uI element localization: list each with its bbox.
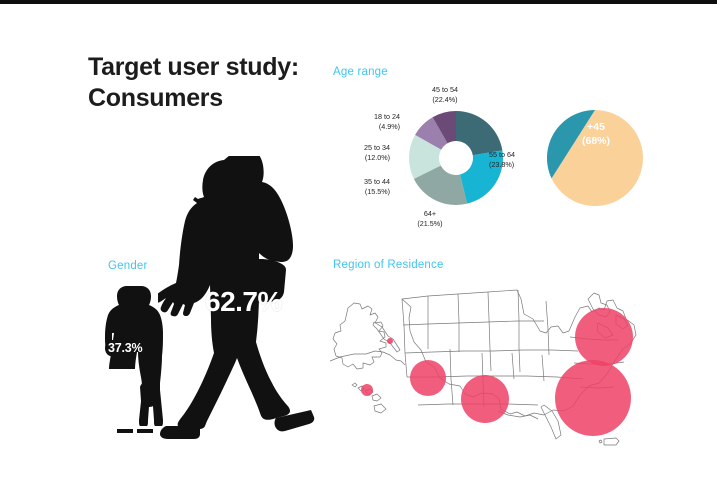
donut-label-55-to-64: 55 to 64 (23.8%) [489,150,515,169]
section-heading-gender: Gender [108,260,148,272]
donut-label-45-to-54-value: (22.4%) [415,95,475,105]
pie-center-label-value: (68%) [582,135,610,147]
page-title-line-1: Target user study: [88,53,299,81]
donut-label-45-to-54-name: 45 to 54 [432,85,458,94]
section-heading-region: Region of Residence [333,259,444,271]
region-bubble-hawaii [361,384,373,396]
region-bubble-northeast [575,308,633,366]
top-accent-bar [0,0,717,4]
pie-center-label-name: +45 [587,121,605,133]
donut-slice-45-to-54 [456,111,502,155]
donut-label-25-to-34: 25 to 34 (12.0%) [334,143,390,162]
donut-label-18-to-24: 18 to 24 (4.9%) [344,112,400,131]
male-percentage-label: 62.7% [205,286,282,318]
map-puerto-rico [599,438,619,445]
page-title: Target user study: Consumers [88,52,348,113]
map-state-alaska [333,303,386,369]
pie-center-label-over-45: +45 (68%) [568,121,624,148]
region-bubble-aleutian [387,338,393,344]
donut-label-45-to-54: 45 to 54 (22.4%) [415,85,475,104]
region-bubble-southeast [555,360,631,436]
page-title-line-2: Consumers [88,84,223,112]
map-southeast-detail [498,405,561,439]
donut-label-18-to-24-value: (4.9%) [344,122,400,132]
female-percentage-label: 37.3% [108,341,142,355]
donut-label-25-to-34-name: 25 to 34 [364,143,390,152]
donut-label-35-to-44-name: 35 to 44 [364,177,390,186]
region-bubble-west [410,360,446,396]
donut-label-64-plus-name: 64+ [424,209,436,218]
section-heading-age-range: Age range [333,66,388,78]
donut-label-64-plus: 64+ (21.5%) [404,209,456,228]
donut-label-18-to-24-name: 18 to 24 [374,112,400,121]
region-bubble-south-central [461,375,509,423]
donut-label-35-to-44-value: (15.5%) [334,187,390,197]
female-silhouette-icon [96,283,166,448]
us-map-icon [330,275,695,460]
infographic-canvas: Target user study: Consumers Age range G… [0,0,717,486]
map-alaska-panhandle [373,322,400,352]
donut-label-55-to-64-name: 55 to 64 [489,150,515,159]
donut-label-55-to-64-value: (23.8%) [489,160,515,170]
donut-label-25-to-34-value: (12.0%) [334,153,390,163]
donut-label-35-to-44: 35 to 44 (15.5%) [334,177,390,196]
donut-label-64-plus-value: (21.5%) [404,219,456,229]
region-bubbles [361,308,633,436]
